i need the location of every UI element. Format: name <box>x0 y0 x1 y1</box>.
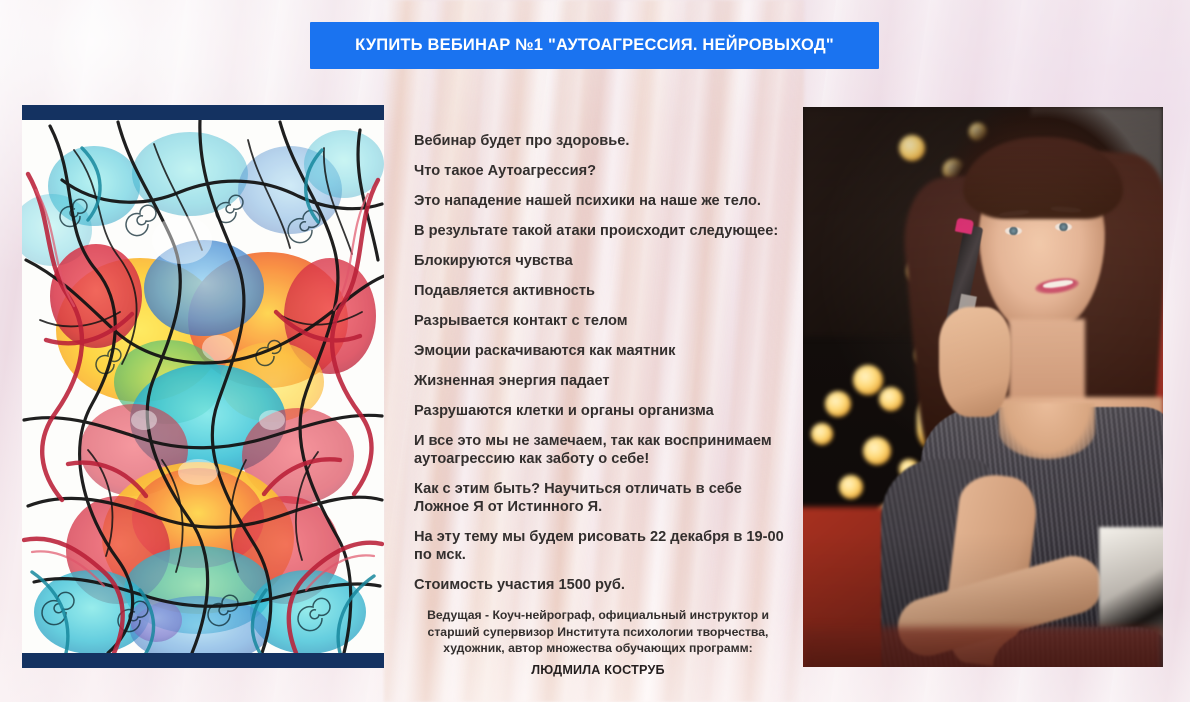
body-line: Что такое Аутоагрессия? <box>414 162 792 180</box>
neurographic-artwork-card <box>22 105 384 668</box>
presenter-credits: Ведущая - Коуч-нейрограф, официальный ин… <box>398 607 798 677</box>
promo-page: КУПИТЬ ВЕБИНАР №1 "АУТОАГРЕССИЯ. НЕЙРОВЫ… <box>0 0 1190 702</box>
body-line: Вебинар будет про здоровье. <box>414 132 792 150</box>
buy-webinar-button[interactable]: КУПИТЬ ВЕБИНАР №1 "АУТОАГРЕССИЯ. НЕЙРОВЫ… <box>310 22 879 69</box>
body-line: Эмоции раскачиваются как маятник <box>414 342 792 360</box>
body-line: На эту тему мы будем рисовать 22 декабря… <box>414 528 792 564</box>
presenter-name: ЛЮДМИЛА КОСТРУБ <box>398 663 798 677</box>
body-line: Стоимость участия 1500 руб. <box>414 576 792 594</box>
body-line: Блокируются чувства <box>414 252 792 270</box>
presenter-description: Ведущая - Коуч-нейрограф, официальный ин… <box>398 607 798 657</box>
body-line: Жизненная энергия падает <box>414 372 792 390</box>
body-line: Разрушаются клетки и органы организма <box>414 402 792 420</box>
neurographic-artwork-image <box>22 120 384 653</box>
body-line: Это нападение нашей психики на наше же т… <box>414 192 792 210</box>
presenter-photo <box>803 107 1163 667</box>
webinar-description: Вебинар будет про здоровье. Что такое Ау… <box>414 132 792 606</box>
body-line: В результате такой атаки происходит след… <box>414 222 792 240</box>
body-line: И все это мы не замечаем, так как воспри… <box>414 432 792 468</box>
body-line: Подавляется активность <box>414 282 792 300</box>
body-line: Как с этим быть? Научиться отличать в се… <box>414 480 792 516</box>
photo-color-grade <box>803 107 1163 667</box>
body-line: Разрывается контакт с телом <box>414 312 792 330</box>
